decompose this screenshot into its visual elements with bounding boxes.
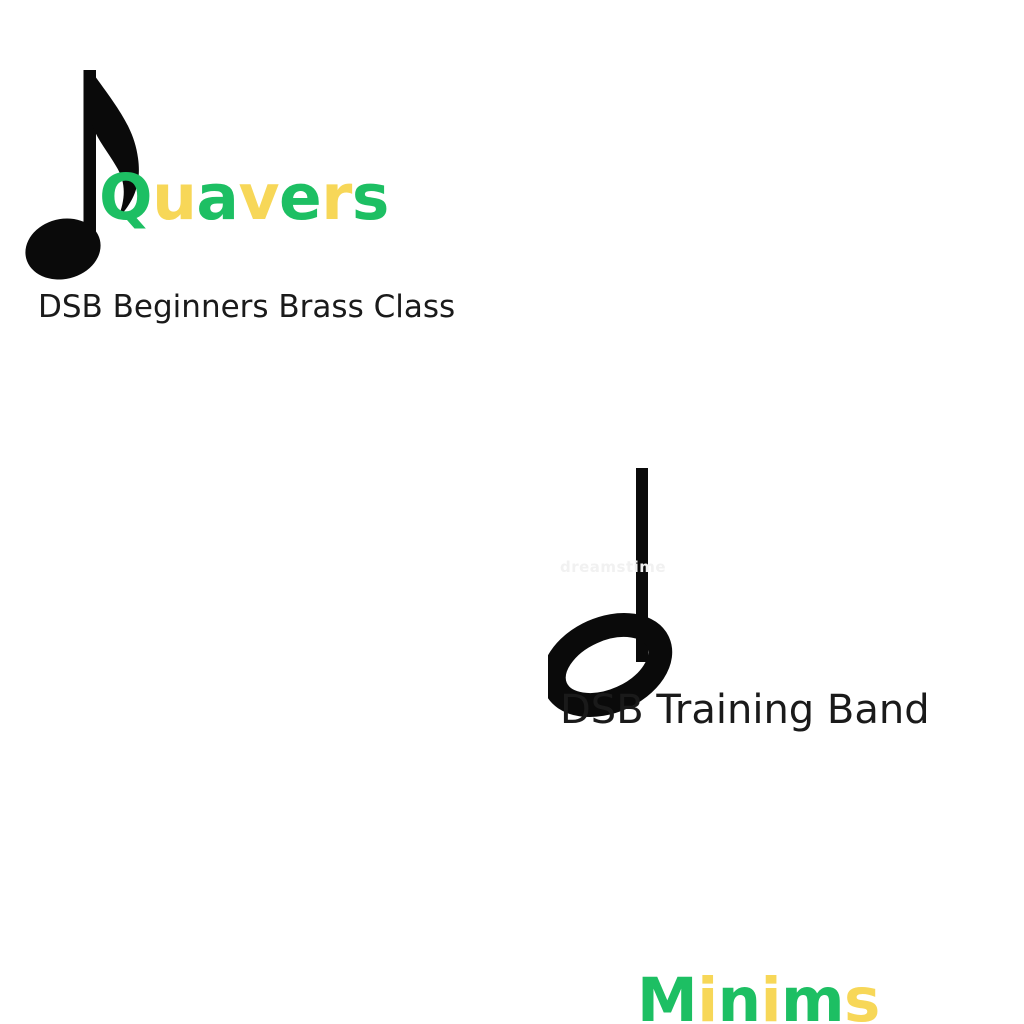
logo-quavers: Quavers DSB Beginners Brass Class	[0, 0, 520, 350]
logo-canvas: Quavers DSB Beginners Brass Class dreams…	[0, 0, 1024, 1024]
wordmark-letter-m: m	[781, 970, 844, 1024]
tagline-quavers: DSB Beginners Brass Class	[38, 292, 455, 323]
wordmark-minims: Minims	[637, 970, 880, 1024]
wordmark-letter-i: i	[761, 970, 781, 1024]
wordmark-letter-u: u	[152, 166, 196, 229]
watermark-dreamstime: dreamstime	[560, 560, 666, 575]
wordmark-letter-r: r	[321, 166, 352, 229]
wordmark-letter-m: M	[637, 970, 697, 1024]
wordmark-letter-a: a	[196, 166, 238, 229]
wordmark-letter-n: n	[718, 970, 761, 1024]
wordmark-letter-e: e	[279, 166, 321, 229]
wordmark-letter-i: i	[697, 970, 717, 1024]
tagline-minims: DSB Training Band	[560, 690, 930, 730]
wordmark-letter-s: s	[844, 970, 880, 1024]
wordmark-letter-q: Q	[99, 166, 152, 229]
wordmark-letter-s: s	[352, 166, 389, 229]
wordmark-letter-v: v	[238, 166, 279, 229]
wordmark-quavers: Quavers	[99, 166, 389, 229]
logo-minims: dreamstime Minims DSB Training Band	[520, 440, 1024, 770]
